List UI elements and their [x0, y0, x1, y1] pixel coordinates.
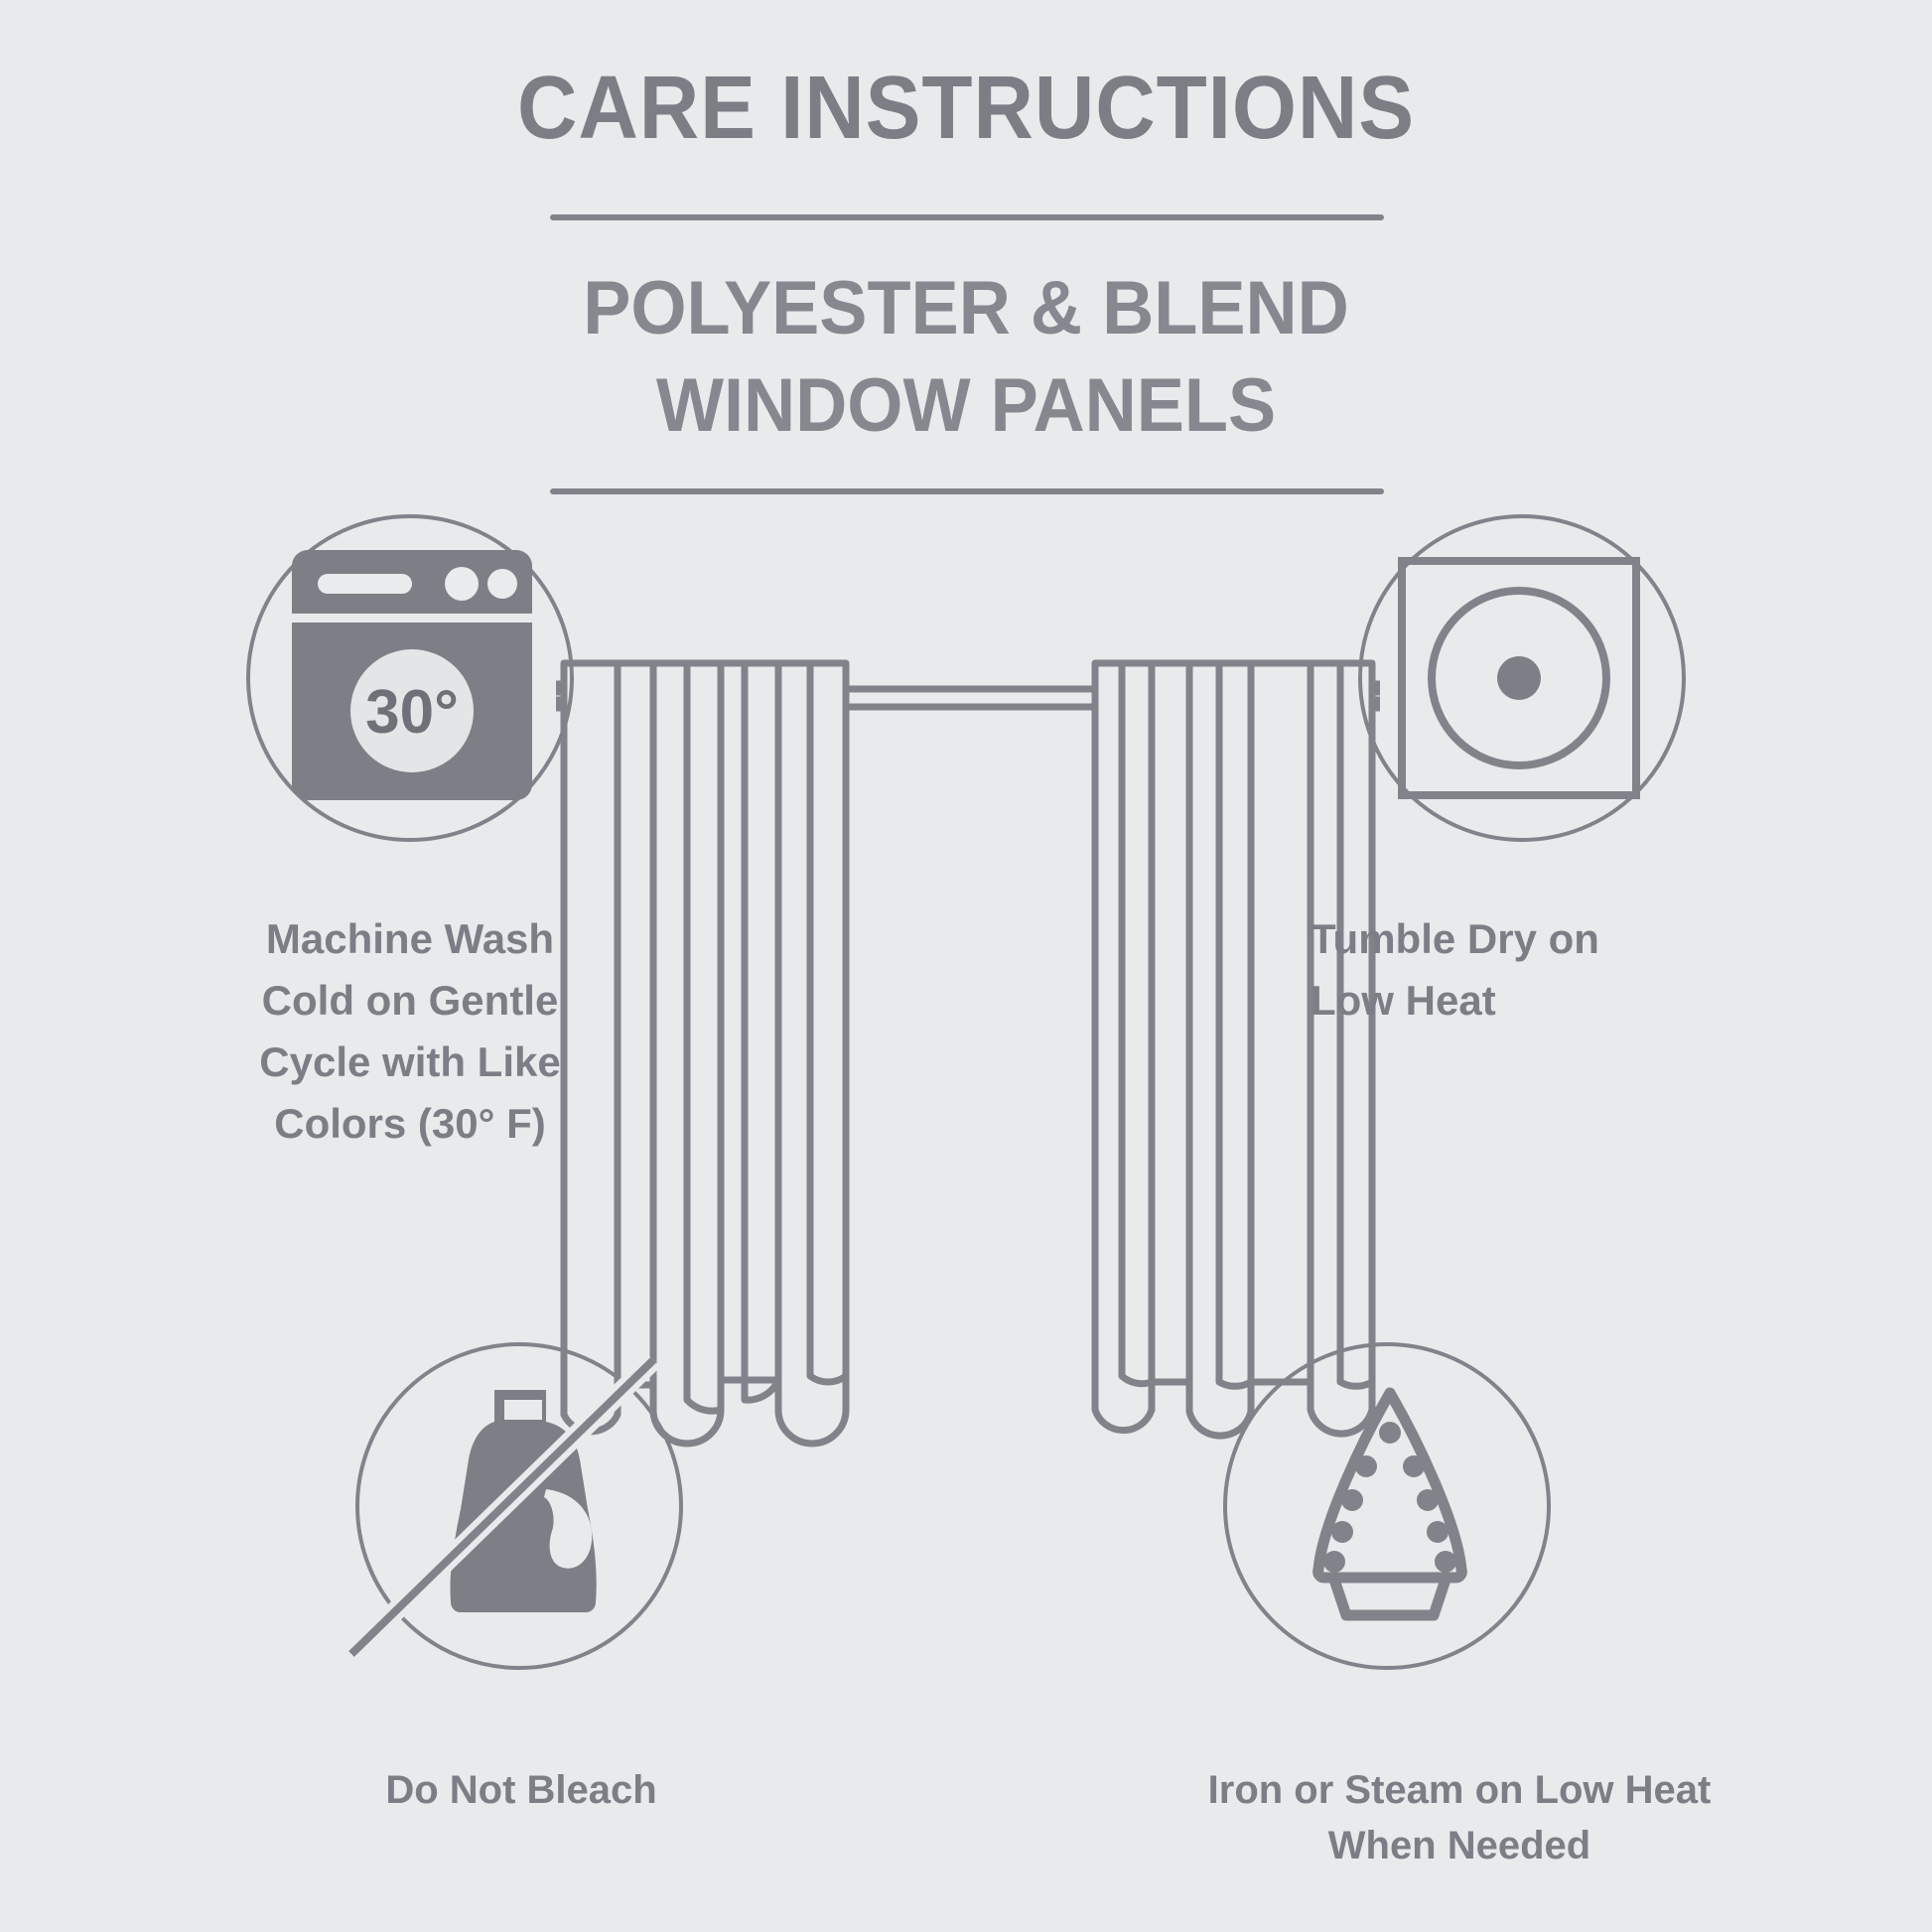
iron-soleplate	[1318, 1393, 1462, 1578]
caption-iron: Iron or Steam on Low Heat When Needed	[1013, 1762, 1906, 1873]
bottle-cap-slot	[504, 1400, 542, 1420]
fold-left-5	[810, 667, 846, 1382]
iron-steam-holes	[1323, 1422, 1456, 1573]
subtitle-line-1: POLYESTER & BLEND	[49, 260, 1884, 357]
washing-machine-icon: 30°	[288, 546, 536, 804]
caption-machine-wash: Machine Wash Cold on Gentle Cycle with L…	[77, 908, 743, 1155]
fold-left-7	[745, 667, 778, 1400]
iron-base	[1334, 1580, 1446, 1615]
care-instructions-infographic: CARE INSTRUCTIONS POLYESTER & BLEND WIND…	[0, 0, 1932, 1932]
divider-bottom	[550, 488, 1384, 494]
caption-do-not-bleach: Do Not Bleach	[189, 1762, 854, 1818]
divider-top	[550, 214, 1384, 220]
wash-temperature-label: 30°	[365, 678, 459, 747]
caption-tumble-dry: Tumble Dry on Low Heat	[1311, 908, 1906, 1032]
dryer-heat-dot	[1497, 656, 1541, 700]
subtitle-line-2: WINDOW PANELS	[49, 357, 1884, 455]
page-title: CARE INSTRUCTIONS	[68, 58, 1864, 160]
fold-right-5	[1122, 667, 1152, 1384]
fold-right-6	[1219, 667, 1251, 1386]
iron-low-heat-icon	[1291, 1385, 1489, 1633]
do-not-bleach-icon	[397, 1382, 645, 1630]
tumble-dry-low-icon	[1397, 556, 1641, 800]
curtain-panel-right	[1095, 663, 1372, 1436]
